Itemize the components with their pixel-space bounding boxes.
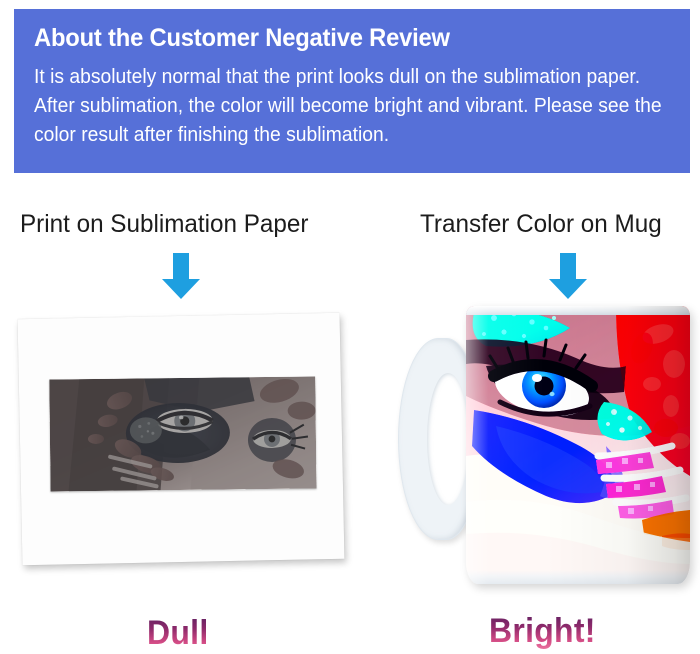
artwork-eyes-bright [466, 306, 690, 584]
printed-artwork-dull [49, 376, 316, 491]
mug-base [466, 570, 690, 584]
sublimation-paper-photo [16, 312, 346, 568]
arrow-down-icon-left [160, 253, 202, 299]
caption-dull: Dull [147, 614, 208, 653]
mug-body [466, 306, 690, 584]
mug-photo [392, 300, 698, 592]
paper-sheet [18, 313, 345, 565]
mug-handle-hole [427, 373, 469, 505]
banner-body-text: It is absolutely normal that the print l… [34, 63, 676, 150]
left-column-title: Print on Sublimation Paper [20, 210, 308, 239]
arrow-down-icon-right [547, 253, 589, 299]
negative-review-banner: About the Customer Negative Review It is… [14, 9, 690, 173]
mug-rim [466, 306, 690, 315]
artwork-eyes-dull [49, 376, 316, 491]
banner-title: About the Customer Negative Review [34, 23, 638, 53]
caption-bright: Bright! [489, 612, 596, 651]
right-column-title: Transfer Color on Mug [420, 210, 662, 239]
